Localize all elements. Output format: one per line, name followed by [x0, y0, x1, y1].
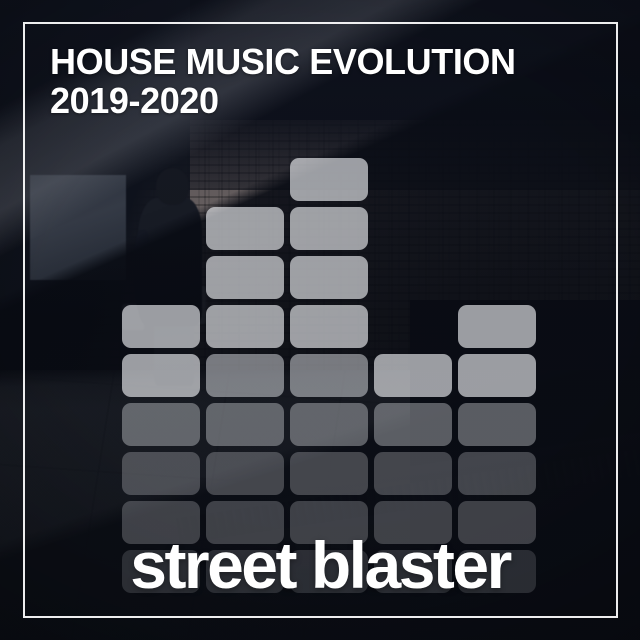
equalizer-block [206, 207, 284, 250]
equalizer-block [374, 403, 452, 446]
equalizer-block [122, 354, 200, 397]
equalizer-block [206, 354, 284, 397]
equalizer-block [458, 354, 536, 397]
title-block: HOUSE MUSIC EVOLUTION 2019-2020 [50, 44, 516, 119]
equalizer-block [458, 403, 536, 446]
equalizer-block [290, 305, 368, 348]
equalizer-block [206, 256, 284, 299]
brand-logotype: street blaster [130, 532, 510, 598]
equalizer-block [290, 158, 368, 201]
equalizer-block [374, 452, 452, 495]
title-line-primary: HOUSE MUSIC EVOLUTION [50, 44, 516, 80]
album-cover: HOUSE MUSIC EVOLUTION 2019-2020 street b… [0, 0, 640, 640]
equalizer-block [122, 305, 200, 348]
equalizer-block [122, 452, 200, 495]
equalizer-block [290, 256, 368, 299]
title-line-years: 2019-2020 [50, 83, 516, 119]
equalizer-block [206, 452, 284, 495]
equalizer-block [458, 305, 536, 348]
equalizer-block [290, 452, 368, 495]
equalizer-block [290, 207, 368, 250]
equalizer-block [206, 305, 284, 348]
equalizer-block [374, 354, 452, 397]
equalizer-block [122, 403, 200, 446]
equalizer-block [206, 403, 284, 446]
equalizer-block [290, 354, 368, 397]
equalizer-block [458, 452, 536, 495]
equalizer-block [290, 403, 368, 446]
